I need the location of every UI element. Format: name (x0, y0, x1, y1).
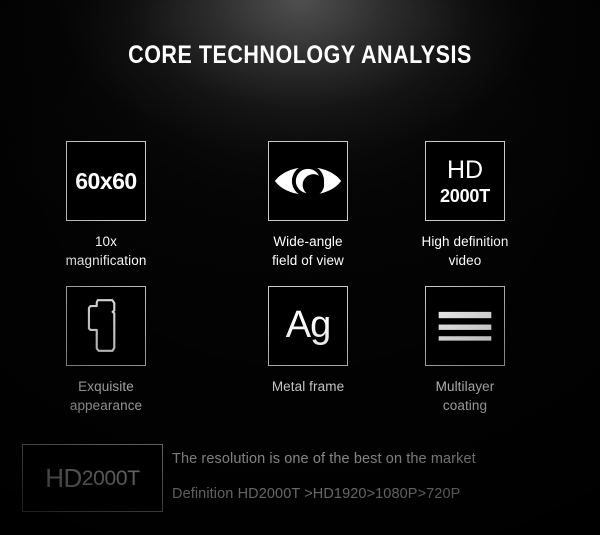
hd-label-line-2: 2000T (440, 187, 490, 205)
caption-line-1: Metal frame (228, 377, 388, 396)
hd-2000t-label: HD 2000T (426, 142, 504, 220)
caption-line-1: Wide-angle (228, 232, 388, 251)
caption-field-of-view: Wide-angle field of view (228, 232, 388, 270)
magnification-value-text: 60x60 (67, 142, 145, 220)
footer-text-line-2: Definition HD2000T >HD1920>1080P>720P (172, 486, 460, 502)
caption-high-definition: High definition video (385, 232, 545, 270)
icon-box-high-definition: HD 2000T (425, 141, 505, 221)
caption-appearance: Exquisite appearance (26, 377, 186, 415)
hd-2000t-badge: HD 2000T (22, 444, 163, 512)
caption-line-1: High definition (385, 232, 545, 251)
caption-line-1: 10x (26, 232, 186, 251)
caption-metal-frame: Metal frame (228, 377, 388, 396)
caption-magnification: 10x magnification (26, 232, 186, 270)
feature-card-appearance: Exquisite appearance (26, 286, 186, 415)
icon-box-metal-frame: Ag (268, 286, 348, 366)
icon-box-field-of-view (268, 141, 348, 221)
caption-line-2: coating (385, 396, 545, 415)
feature-card-high-definition: HD 2000T High definition video (385, 141, 545, 270)
infographic-slide: CORE TECHNOLOGY ANALYSIS 60x60 10x magni… (0, 0, 600, 535)
caption-line-2: video (385, 251, 545, 270)
monocular-icon (67, 287, 145, 365)
icon-box-appearance (66, 286, 146, 366)
layers-icon (426, 287, 504, 365)
hd-label-line-1: HD (447, 158, 483, 183)
badge-text-hd: HD (45, 465, 82, 491)
icon-box-magnification: 60x60 (66, 141, 146, 221)
eye-icon (269, 142, 347, 220)
caption-line-2: magnification (26, 251, 186, 270)
badge-text-2000t: 2000T (82, 468, 140, 489)
caption-line-2: appearance (26, 396, 186, 415)
feature-card-multilayer-coating: Multilayer coating (385, 286, 545, 415)
feature-card-field-of-view: Wide-angle field of view (228, 141, 388, 270)
caption-line-1: Exquisite (26, 377, 186, 396)
caption-line-1: Multilayer (385, 377, 545, 396)
feature-card-metal-frame: Ag Metal frame (228, 286, 388, 396)
silver-symbol-text: Ag (269, 287, 347, 365)
caption-multilayer-coating: Multilayer coating (385, 377, 545, 415)
page-title: CORE TECHNOLOGY ANALYSIS (42, 41, 558, 70)
caption-line-2: field of view (228, 251, 388, 270)
feature-card-magnification: 60x60 10x magnification (26, 141, 186, 270)
icon-box-multilayer-coating (425, 286, 505, 366)
footer-text-line-1: The resolution is one of the best on the… (172, 451, 476, 467)
